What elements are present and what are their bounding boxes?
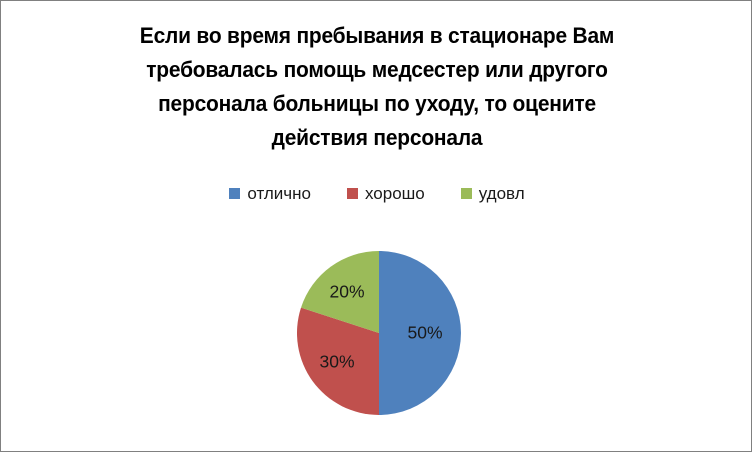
chart-legend: отлично хорошо удовл xyxy=(1,185,752,202)
data-label-good: 30% xyxy=(319,353,354,371)
legend-swatch-excellent xyxy=(229,188,240,199)
legend-label-satisfactory: удовл xyxy=(479,185,525,202)
legend-item-good[interactable]: хорошо xyxy=(347,185,425,202)
legend-item-satisfactory[interactable]: удовл xyxy=(461,185,525,202)
chart-container: Если во время пребывания в стационаре Ва… xyxy=(0,0,752,452)
legend-swatch-good xyxy=(347,188,358,199)
data-label-satisfactory: 20% xyxy=(329,283,364,301)
legend-label-good: хорошо xyxy=(365,185,425,202)
legend-swatch-satisfactory xyxy=(461,188,472,199)
chart-title: Если во время пребывания в стационаре Ва… xyxy=(70,19,684,155)
plot-area: 50% 30% 20% xyxy=(1,223,752,451)
legend-label-excellent: отлично xyxy=(247,185,311,202)
data-label-excellent: 50% xyxy=(407,324,442,342)
legend-item-excellent[interactable]: отлично xyxy=(229,185,311,202)
